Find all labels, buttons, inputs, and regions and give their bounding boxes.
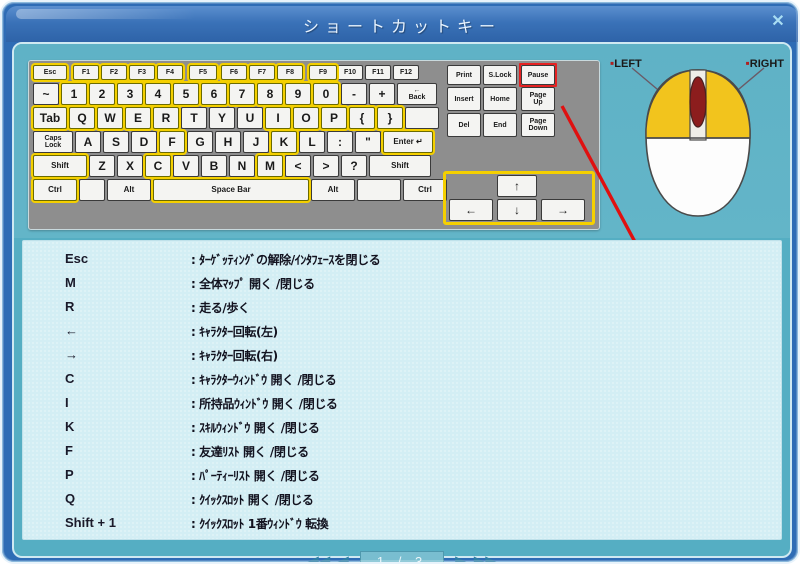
key-blank-10[interactable]: : [327,131,353,153]
key-c[interactable]: C [145,155,171,177]
key-g[interactable]: G [187,131,213,153]
shortcut-description: : ｸｲｯｸｽﾛｯﾄ 1番ｳｨﾝﾄﾞｳ 転換 [191,515,751,532]
window-title: ショートカットキー [6,13,798,37]
key-f10[interactable]: F10 [337,65,363,80]
key-del[interactable]: Del [447,113,481,137]
shortcut-row: Esc: ﾀｰｹﾞｯﾃｨﾝｸﾞの解除/ｲﾝﾀﾌｪｰｽを閉じる [23,251,783,276]
key-5[interactable]: 5 [173,83,199,105]
key-caps-lock[interactable]: Caps Lock [33,131,73,153]
shortcut-description: : ｷｬﾗｸﾀｰｳｨﾝﾄﾞｳ 開く /閉じる [191,371,751,388]
key-r[interactable]: R [153,107,179,129]
shortcut-row: K: ｽｷﾙｳｨﾝﾄﾞｳ 開く /閉じる [23,419,783,444]
pagination-bar: ◀◀ ◀ 1 / 3 ▶ ▶▶ [14,544,790,564]
shortcut-description: : ｷｬﾗｸﾀｰ回転(右) [191,347,751,364]
shortcut-row: R: 走る/歩く [23,299,783,324]
key-f12[interactable]: F12 [393,65,419,80]
key-f2[interactable]: F2 [101,65,127,80]
title-bar: ショートカットキー ✕ [6,6,798,42]
key-p[interactable]: P [321,107,347,129]
key-2[interactable]: 2 [89,83,115,105]
key-tab[interactable]: Tab [33,107,67,129]
key-arrow-down[interactable]: ↓ [497,199,537,221]
total-pages: 3 [415,554,427,564]
key-j[interactable]: J [243,131,269,153]
key-8[interactable]: 8 [257,83,283,105]
next-page-button[interactable]: ▶ [455,554,467,564]
key-blank-10[interactable]: ? [341,155,367,177]
shortcut-description: : ｽｷﾙｳｨﾝﾄﾞｳ 開く /閉じる [191,419,751,436]
key-page-up[interactable]: Page Up [521,87,555,111]
key-n[interactable]: N [229,155,255,177]
shortcut-row: I: 所持品ｳｨﾝﾄﾞｳ 開く /閉じる [23,395,783,420]
key-e[interactable]: E [125,107,151,129]
shortcut-row: C: ｷｬﾗｸﾀｰｳｨﾝﾄﾞｳ 開く /閉じる [23,371,783,396]
key-q[interactable]: Q [69,107,95,129]
key-ctrl[interactable]: Ctrl [403,179,447,201]
key-insert[interactable]: Insert [447,87,481,111]
key-alt[interactable]: Alt [311,179,355,201]
key-print[interactable]: Print [447,65,481,85]
key-a[interactable]: A [75,131,101,153]
key-blank-0[interactable]: ~ [33,83,59,105]
key-back[interactable]: ← Back [397,83,437,105]
key-f9[interactable]: F9 [309,65,337,80]
key-blank-11[interactable]: { [349,107,375,129]
shortcut-description: : 全体ﾏｯﾌﾟ 開く /閉じる [191,275,751,292]
shortcut-description: : 友達ﾘｽﾄ 開く /閉じる [191,443,751,460]
key-esc[interactable]: Esc [33,65,67,80]
key-6[interactable]: 6 [201,83,227,105]
key-f1[interactable]: F1 [73,65,99,80]
key-blank-11[interactable]: - [341,83,367,105]
key-f3[interactable]: F3 [129,65,155,80]
key-k[interactable]: K [271,131,297,153]
key-w[interactable]: W [97,107,123,129]
key-f5[interactable]: F5 [189,65,217,80]
key-alt[interactable]: Alt [107,179,151,201]
key-enter[interactable]: Enter ↵ [383,131,433,153]
shortcut-row: P: ﾊﾟｰﾃｨｰﾘｽﾄ 開く /閉じる [23,467,783,492]
key-1[interactable]: 1 [61,83,87,105]
mouse-svg [604,50,790,236]
shortcut-row: Shift + 1: ｸｲｯｸｽﾛｯﾄ 1番ｳｨﾝﾄﾞｳ 転換 [23,515,783,540]
key-t[interactable]: T [181,107,207,129]
key-space-bar[interactable]: Space Bar [153,179,309,201]
key-0[interactable]: 0 [313,83,339,105]
key-f6[interactable]: F6 [221,65,247,80]
key-y[interactable]: Y [209,107,235,129]
key-x[interactable]: X [117,155,143,177]
shortcut-description: : 走る/歩く [191,299,751,316]
shortcut-row: M: 全体ﾏｯﾌﾟ 開く /閉じる [23,275,783,300]
key-blank-13[interactable] [405,107,439,129]
key-f11[interactable]: F11 [365,65,391,80]
shortcut-row: F: 友達ﾘｽﾄ 開く /閉じる [23,443,783,468]
key-9[interactable]: 9 [285,83,311,105]
shortcut-row: →: ｷｬﾗｸﾀｰ回転(右) [23,347,783,372]
key-v[interactable]: V [173,155,199,177]
key-b[interactable]: B [201,155,227,177]
key-blank-1[interactable] [79,179,105,201]
shortcut-description: : ｷｬﾗｸﾀｰ回転(左) [191,323,751,340]
key-4[interactable]: 4 [145,83,171,105]
key-pause[interactable]: Pause [521,65,555,85]
key-f8[interactable]: F8 [277,65,303,80]
shortcut-description: : ﾀｰｹﾞｯﾃｨﾝｸﾞの解除/ｲﾝﾀﾌｪｰｽを閉じる [191,251,751,268]
close-icon[interactable]: ✕ [768,12,788,32]
mouse-diagram: ▪LEFT ▪RIGHT [604,50,790,236]
key-3[interactable]: 3 [117,83,143,105]
key-s-lock[interactable]: S.Lock [483,65,517,85]
key-arrow-right[interactable]: → [541,199,585,221]
current-page: 1 [377,554,389,564]
key-l[interactable]: L [299,131,325,153]
key-h[interactable]: H [215,131,241,153]
key-blank-9[interactable]: > [313,155,339,177]
key-home[interactable]: Home [483,87,517,111]
prev-page-button[interactable]: ◀ [337,554,349,564]
key-blank-5[interactable] [357,179,401,201]
key-o[interactable]: O [293,107,319,129]
key-f7[interactable]: F7 [249,65,275,80]
shortcut-description: : ﾊﾟｰﾃｨｰﾘｽﾄ 開く /閉じる [191,467,751,484]
key-z[interactable]: Z [89,155,115,177]
key-shift[interactable]: Shift [369,155,431,177]
last-page-button[interactable]: ▶▶ [474,554,497,564]
key-s[interactable]: S [103,131,129,153]
shortcut-row: ←: ｷｬﾗｸﾀｰ回転(左) [23,323,783,348]
shortcut-description: : 所持品ｳｨﾝﾄﾞｳ 開く /閉じる [191,395,751,412]
shortcut-row: Q: ｸｲｯｸｽﾛｯﾄ 開く /閉じる [23,491,783,516]
key-end[interactable]: End [483,113,517,137]
key-blank-8[interactable]: < [285,155,311,177]
key-7[interactable]: 7 [229,83,255,105]
page-separator: / [398,554,407,564]
keyboard-diagram: EscF1F2F3F4F5F6F7F8F9F10F11F12 ~12345678… [28,60,600,230]
key-blank-11[interactable]: " [355,131,381,153]
key-arrow-up[interactable]: ↑ [497,175,537,197]
key-arrow-left[interactable]: ← [449,199,493,221]
key-i[interactable]: I [265,107,291,129]
key-ctrl[interactable]: Ctrl [33,179,77,201]
key-u[interactable]: U [237,107,263,129]
keyboard-mouse-diagram-area: EscF1F2F3F4F5F6F7F8F9F10F11F12 ~12345678… [14,44,790,238]
shortcut-key-window: ショートカットキー ✕ EscF1F2F3F4F5F6F7F8F9F10F11F… [0,0,800,564]
shortcut-list: Esc: ﾀｰｹﾞｯﾃｨﾝｸﾞの解除/ｲﾝﾀﾌｪｰｽを閉じるM: 全体ﾏｯﾌﾟ … [22,240,782,540]
content-panel: EscF1F2F3F4F5F6F7F8F9F10F11F12 ~12345678… [12,42,792,558]
key-page-down[interactable]: Page Down [521,113,555,137]
key-f4[interactable]: F4 [157,65,183,80]
key-f[interactable]: F [159,131,185,153]
key-d[interactable]: D [131,131,157,153]
key-blank-12[interactable]: + [369,83,395,105]
page-indicator: 1 / 3 [360,551,444,564]
first-page-button[interactable]: ◀◀ [307,554,330,564]
key-blank-12[interactable]: } [377,107,403,129]
shortcut-description: : ｸｲｯｸｽﾛｯﾄ 開く /閉じる [191,491,751,508]
key-m[interactable]: M [257,155,283,177]
key-shift[interactable]: Shift [33,155,87,177]
